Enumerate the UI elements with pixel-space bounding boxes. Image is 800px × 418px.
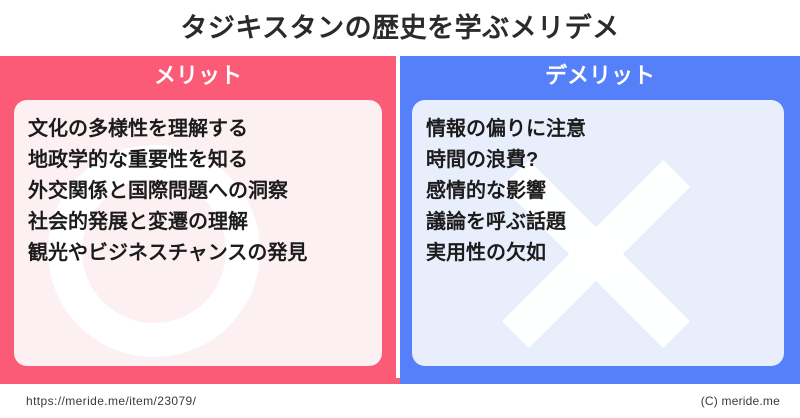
list-item: 地政学的な重要性を知る bbox=[28, 145, 382, 176]
merit-header-label: メリット bbox=[154, 65, 242, 87]
footer-rule-right bbox=[400, 378, 800, 384]
demerit-item-list: 情報の偏りに注意 時間の浪費? 感情的な影響 議論を呼ぶ話題 実用性の欠如 bbox=[412, 100, 784, 366]
source-url[interactable]: https://meride.me/item/23079/ bbox=[26, 394, 196, 408]
comparison-columns: メリット 文化の多様性を理解する 地政学的な重要性を知る 外交関係と国際問題への… bbox=[0, 56, 800, 378]
demerit-column: デメリット 情報の偏りに注意 時間の浪費? 感情的な影響 議論を呼ぶ話題 実用性… bbox=[400, 56, 800, 378]
merit-column-header: メリット bbox=[0, 56, 396, 95]
demerit-header-label: デメリット bbox=[545, 65, 655, 87]
list-item: 外交関係と国際問題への洞察 bbox=[28, 176, 382, 207]
list-item: 実用性の欠如 bbox=[426, 238, 784, 269]
footer: https://meride.me/item/23079/ (C) meride… bbox=[0, 378, 800, 418]
merit-column: メリット 文化の多様性を理解する 地政学的な重要性を知る 外交関係と国際問題への… bbox=[0, 56, 396, 378]
list-item: 議論を呼ぶ話題 bbox=[426, 207, 784, 238]
list-item: 情報の偏りに注意 bbox=[426, 114, 784, 145]
list-item: 感情的な影響 bbox=[426, 176, 784, 207]
list-item: 観光やビジネスチャンスの発見 bbox=[28, 238, 382, 269]
page-title: タジキスタンの歴史を学ぶメリデメ bbox=[180, 15, 619, 42]
demerit-card: 情報の偏りに注意 時間の浪費? 感情的な影響 議論を呼ぶ話題 実用性の欠如 bbox=[412, 100, 784, 366]
list-item: 文化の多様性を理解する bbox=[28, 114, 382, 145]
list-item: 時間の浪費? bbox=[426, 145, 784, 176]
footer-rule-left bbox=[0, 378, 400, 384]
copyright-credit: (C) meride.me bbox=[701, 394, 780, 408]
demerit-column-header: デメリット bbox=[400, 56, 800, 95]
merit-card: 文化の多様性を理解する 地政学的な重要性を知る 外交関係と国際問題への洞察 社会… bbox=[14, 100, 382, 366]
title-bar: タジキスタンの歴史を学ぶメリデメ bbox=[0, 0, 800, 56]
merit-item-list: 文化の多様性を理解する 地政学的な重要性を知る 外交関係と国際問題への洞察 社会… bbox=[14, 100, 382, 366]
list-item: 社会的発展と変遷の理解 bbox=[28, 207, 382, 238]
infographic-root: タジキスタンの歴史を学ぶメリデメ メリット 文化の多様性を理解する 地政学的な重… bbox=[0, 0, 800, 418]
